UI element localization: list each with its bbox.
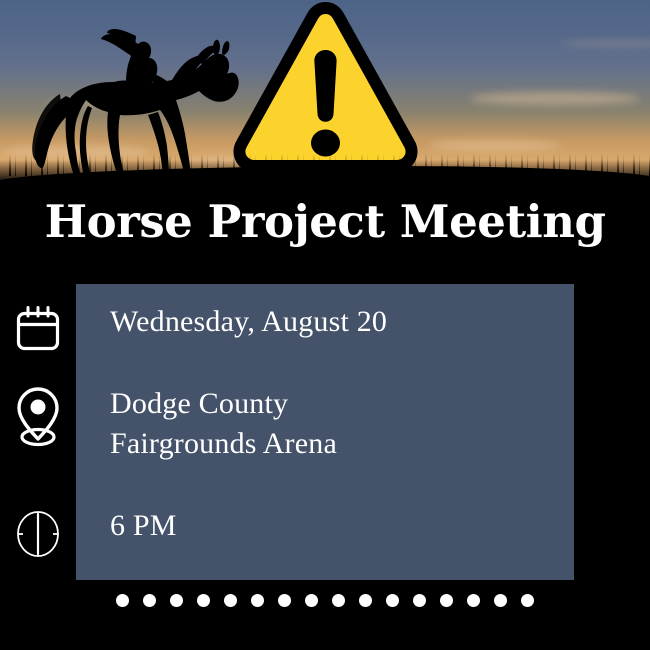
detail-row-location: Dodge County Fairgrounds Arena	[0, 384, 650, 464]
divider-dot	[359, 594, 372, 607]
cloud	[430, 140, 560, 151]
cloud	[470, 92, 640, 105]
detail-line: Fairgrounds Arena	[110, 424, 337, 464]
calendar-icon-cell	[0, 302, 76, 354]
detail-row-date: Wednesday, August 20	[0, 302, 650, 354]
clock-icon	[14, 508, 62, 560]
dot-divider	[0, 594, 650, 607]
detail-text-date: Wednesday, August 20	[76, 302, 387, 342]
location-pin-icon	[14, 386, 62, 448]
detail-text-time: 6 PM	[76, 506, 177, 546]
detail-row-time: 6 PM	[0, 506, 650, 560]
divider-dot	[440, 594, 453, 607]
detail-line: Dodge County	[110, 384, 337, 424]
divider-dot	[116, 594, 129, 607]
divider-dot	[251, 594, 264, 607]
calendar-icon	[14, 304, 62, 354]
location-pin-icon-cell	[0, 384, 76, 448]
divider-dot	[467, 594, 480, 607]
details-list: Wednesday, August 20 Dodge County Fairgr…	[0, 284, 650, 580]
divider-dot	[224, 594, 237, 607]
warning-triangle-icon	[233, 2, 418, 174]
detail-text-location: Dodge County Fairgrounds Arena	[76, 384, 337, 464]
banner-photo	[0, 0, 650, 190]
divider-dot	[305, 594, 318, 607]
divider-dot	[494, 594, 507, 607]
page-title: Horse Project Meeting	[0, 192, 650, 252]
divider-dot	[386, 594, 399, 607]
divider-dot	[278, 594, 291, 607]
event-poster: Horse Project Meeting Wednesday, August …	[0, 0, 650, 650]
divider-dot	[143, 594, 156, 607]
detail-line: Wednesday, August 20	[110, 302, 387, 342]
clock-icon-cell	[0, 506, 76, 560]
divider-dot	[521, 594, 534, 607]
divider-dot	[170, 594, 183, 607]
photo-fade-overlay	[0, 160, 650, 190]
detail-line: 6 PM	[110, 506, 177, 546]
divider-dot	[197, 594, 210, 607]
divider-dot	[332, 594, 345, 607]
divider-dot	[413, 594, 426, 607]
